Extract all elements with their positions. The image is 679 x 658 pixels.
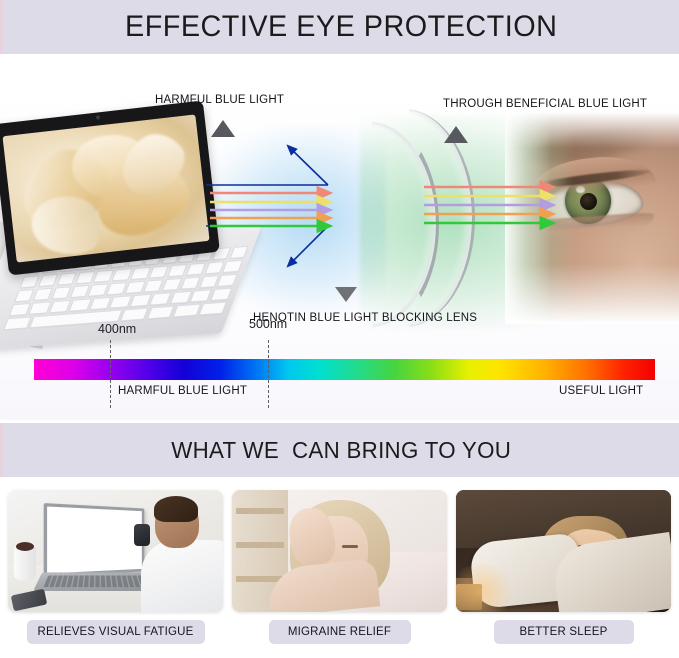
page-title: EFFECTIVE EYE PROTECTION (125, 10, 557, 44)
benefit-caption-visual-fatigue: RELIEVES VISUAL FATIGUE (27, 620, 205, 644)
triangle-down-icon-lens (335, 287, 357, 302)
blocked-blue-rays (206, 146, 328, 266)
woman-with-headache-photo (232, 490, 447, 612)
triangle-up-icon-beneficial (444, 126, 468, 143)
benefit-card-better-sleep: BETTER SLEEP (456, 490, 671, 644)
man-working-on-laptop-photo (8, 490, 223, 612)
incoming-color-rays (210, 193, 330, 226)
section-band: WHAT WE CAN BRING TO YOU (0, 423, 679, 477)
benefits-row: RELIEVES VISUAL FATIGUE MIGRAINE RELIEF (0, 490, 679, 658)
triangle-up-icon-harmful (211, 120, 235, 137)
woman-sleeping-in-bed-photo (456, 490, 671, 612)
benefit-caption-better-sleep: BETTER SLEEP (494, 620, 634, 644)
benefit-card-visual-fatigue: RELIEVES VISUAL FATIGUE (8, 490, 223, 644)
header-band: EFFECTIVE EYE PROTECTION (0, 0, 679, 54)
label-through-beneficial-blue-light: THROUGH BENEFICIAL BLUE LIGHT (443, 98, 647, 110)
outgoing-color-rays (424, 187, 553, 223)
section-title: WHAT WE CAN BRING TO YOU (171, 437, 511, 464)
label-lens-caption: HENOTIN BLUE LIGHT BLOCKING LENS (253, 312, 477, 324)
benefit-card-migraine-relief: MIGRAINE RELIEF (232, 490, 447, 644)
label-harmful-blue-light: HARMFUL BLUE LIGHT (155, 94, 284, 106)
benefit-caption-migraine-relief: MIGRAINE RELIEF (269, 620, 411, 644)
light-protection-diagram: HARMFUL BLUE LIGHT THROUGH BENEFICIAL BL… (0, 54, 679, 420)
infographic-page: EFFECTIVE EYE PROTECTION (0, 0, 679, 658)
